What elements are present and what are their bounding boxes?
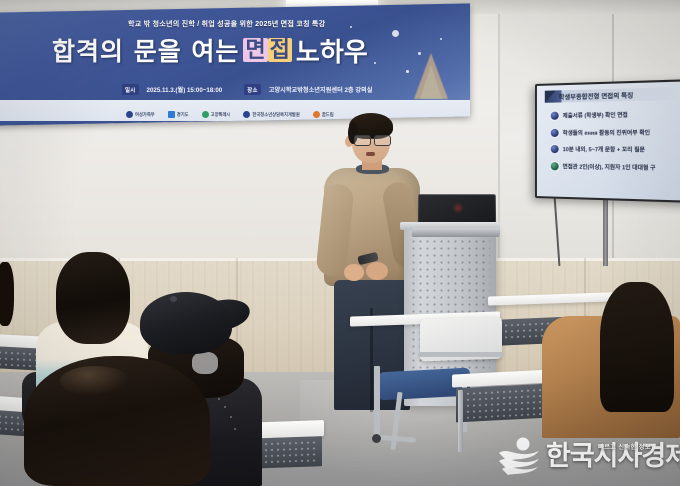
province-emblem-icon: [168, 111, 175, 118]
bullet-text: 면접관 2인(이상), 지원자 1인 대대형 구: [563, 162, 656, 172]
photo-scene: 학교 밖 청소년의 진학 / 취업 성공을 위한 2025년 면접 코칭 특강 …: [0, 0, 680, 486]
chair-leg: [374, 366, 380, 440]
logo-label: 고양특례시: [211, 112, 231, 118]
date-text: 2025.11.3.(월) 15:00~18:00: [147, 85, 223, 94]
cap-button-icon: [170, 296, 177, 302]
speaker-right-hand: [366, 262, 388, 280]
audience-2-cap: [140, 292, 232, 354]
audience-1-hair: [56, 252, 130, 344]
logo-item: 여성가족부: [126, 111, 155, 118]
logo-item: 고양특례시: [202, 111, 231, 118]
slide-bullet: 면접관 2인(이상), 지원자 1인 대대형 구: [551, 162, 680, 172]
slide-triangle-icon: [545, 90, 556, 102]
bullet-dot-icon: [551, 162, 559, 170]
audience-member-5-hair: [0, 262, 14, 326]
logo-item: 한국청소년상담복지개발원: [243, 111, 299, 118]
bullet-text: 학생들의 ення 활동의 진위여부 확인: [563, 128, 650, 137]
sponsor-logo-row: 여성가족부 경기도 고양특례시 한국청소년상담복지개발원 꿈드림: [126, 111, 334, 118]
chair-caster: [372, 434, 381, 443]
audience-2-face-mask: [192, 352, 218, 374]
ministry-emblem-icon: [126, 111, 133, 118]
bullet-dot-icon: [551, 112, 559, 120]
watermark-tagline: 빠르고 신속한 정보: [598, 442, 651, 451]
banner-title-part1: 합격의 문을 여는: [52, 32, 239, 68]
tv-stand-pole: [603, 192, 608, 266]
presentation-display: 학생부종합전형 면접의 특징 제출서류 (학생부) 확인 면접 학생들의 енн…: [535, 79, 680, 203]
slide-bullet: 학생들의 ення 활동의 진위여부 확인: [551, 127, 680, 136]
banner-highlight-2: 접: [268, 38, 292, 62]
slide-bullet: 10분 내외, 5~7개 문항 + 꼬리 질문: [551, 145, 680, 154]
slide-bullet-list: 제출서류 (학생부) 확인 면접 학생들의 ення 활동의 진위여부 확인 1…: [551, 110, 680, 182]
wave-logo-icon: [498, 436, 541, 476]
logo-item: 경기도: [168, 111, 189, 118]
chair-frame-bar: [418, 352, 504, 357]
slide-screen: 학생부종합전형 면접의 특징 제출서류 (학생부) 확인 면접 학생들의 енн…: [537, 81, 680, 201]
speaker-mouth: [366, 152, 375, 156]
banner-title-highlight: 면 접: [243, 38, 292, 62]
watermark-text-holder: 빠르고 신속한 정보 한국시사경제: [546, 443, 680, 470]
watermark: 빠르고 신속한 정보 한국시사경제: [498, 432, 674, 480]
banner-info-row: 일시 2025.11.3.(월) 15:00~18:00 장소 고양시학교밖청소…: [122, 84, 372, 95]
logo-label: 한국청소년상담복지개발원: [252, 112, 299, 118]
banner-highlight-1: 면: [243, 38, 267, 62]
banner-title: 합격의 문을 여는 면 접 노하우: [52, 32, 452, 68]
city-emblem-icon: [202, 111, 209, 118]
bullet-text: 10분 내외, 5~7개 문항 + 꼬리 질문: [563, 145, 645, 154]
slide-bullet: 제출서류 (학생부) 확인 면접: [551, 110, 680, 120]
agency-emblem-icon: [243, 111, 250, 118]
glasses-icon: [354, 135, 390, 144]
logo-label: 여성가족부: [135, 112, 155, 118]
audience-4-hair: [600, 282, 674, 412]
place-chip: 장소: [244, 84, 261, 95]
laptop-keyboard-base: [412, 228, 501, 237]
bullet-text: 제출서류 (학생부) 확인 면접: [563, 111, 628, 120]
place-text: 고양시학교밖청소년지원센터 2층 강의실: [269, 85, 373, 94]
speaker-left-hand: [344, 264, 364, 281]
slide-title-bar: 학생부종합전형 면접의 특징: [545, 87, 680, 103]
logo-label: 경기도: [177, 112, 189, 118]
slide-title: 학생부종합전형 면접의 특징: [559, 90, 634, 101]
audience-3-hair-highlight: [60, 366, 130, 396]
banner-title-part2: 노하우: [296, 32, 368, 69]
event-banner: 학교 밖 청소년의 진학 / 취업 성공을 위한 2025년 면접 코칭 특강 …: [0, 3, 470, 125]
bullet-dot-icon: [551, 145, 559, 153]
banner-subtitle: 학교 밖 청소년의 진학 / 취업 성공을 위한 2025년 면접 코칭 특강: [128, 19, 428, 29]
bullet-dot-icon: [551, 128, 559, 136]
laptop-logo-glow: [452, 202, 464, 214]
date-chip: 일시: [122, 84, 139, 95]
desk-leg: [458, 390, 463, 452]
